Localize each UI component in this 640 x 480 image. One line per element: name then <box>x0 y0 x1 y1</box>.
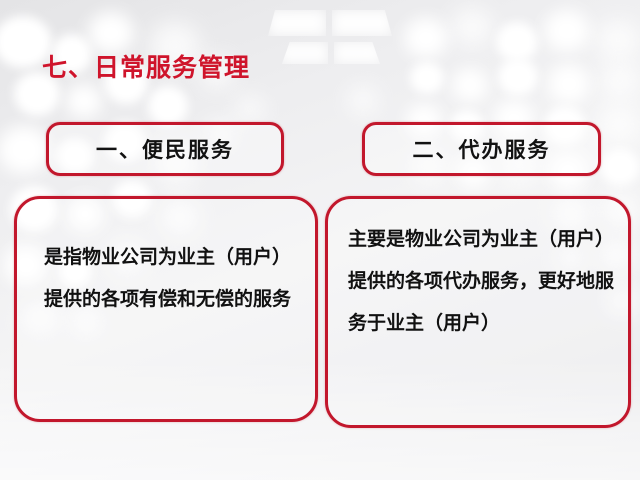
page-title: 七、日常服务管理 <box>42 48 250 84</box>
section-body-text-1: 是指物业公司为业主（用户）提供的各项有偿和无偿的服务 <box>44 236 302 320</box>
section-header-box-2[interactable]: 二、代办服务 <box>362 122 601 176</box>
section-header-box-1[interactable]: 一、便民服务 <box>46 122 284 176</box>
slide-content: 七、日常服务管理 一、便民服务 二、代办服务 是指物业公司为业主（用户）提供的各… <box>0 0 640 480</box>
section-header-label-1: 一、便民服务 <box>96 134 234 164</box>
slide-canvas: 七、日常服务管理 一、便民服务 二、代办服务 是指物业公司为业主（用户）提供的各… <box>0 0 640 480</box>
section-body-text-2: 主要是物业公司为业主（用户）提供的各项代办服务，更好地服务于业主（用户） <box>348 218 616 344</box>
section-header-label-2: 二、代办服务 <box>413 134 551 164</box>
